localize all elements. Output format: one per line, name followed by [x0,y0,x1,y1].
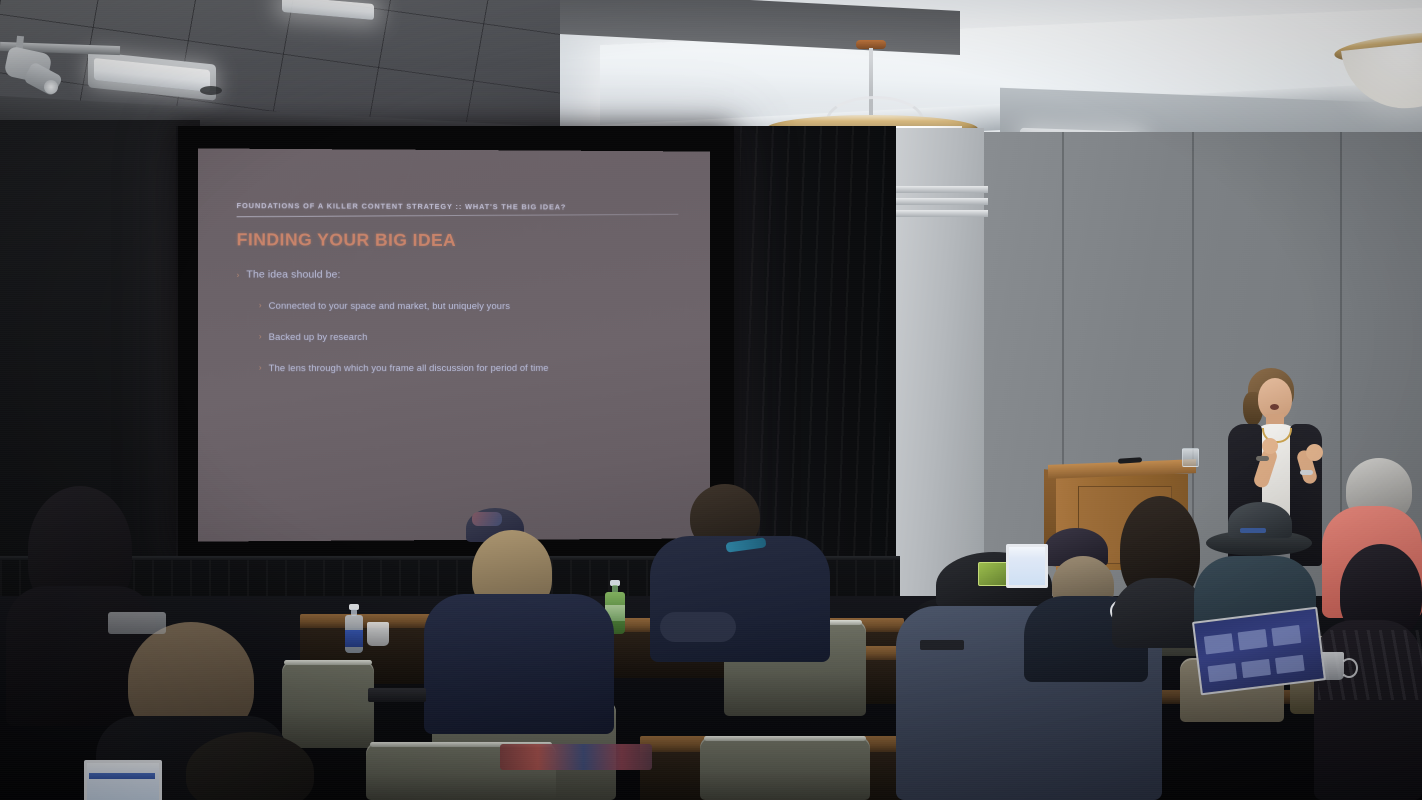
bottle-label [345,630,363,647]
bullet-text: Backed up by research [269,330,368,343]
conference-room-scene: FOUNDATIONS OF A KILLER CONTENT STRATEGY… [0,0,1422,800]
screen-tile [1241,659,1271,678]
chair-top-rail [284,660,372,665]
slide-bullet-item: › Backed up by research [259,330,677,343]
laptop-screen [1006,544,1048,588]
phone-device [920,640,964,650]
column-molding [884,198,988,205]
presentation-slide: FOUNDATIONS OF A KILLER CONTENT STRATEGY… [198,148,710,541]
screen-tile [1204,633,1234,654]
projection-screen-surface: FOUNDATIONS OF A KILLER CONTENT STRATEGY… [198,148,710,541]
presenter-hand-right [1306,444,1323,461]
screen-tile [1275,655,1305,674]
slide-eyebrow-text: FOUNDATIONS OF A KILLER CONTENT STRATEGY… [237,201,677,212]
spotlight-lens-icon [44,80,58,94]
column-molding [884,210,988,217]
slide-bullet-item: › The idea should be: [237,268,677,282]
laptop-screen [84,760,162,800]
laptop-screen [1192,607,1326,696]
presenter-hand-left [1262,438,1278,454]
presenter-bracelet [1256,456,1269,461]
slide-bullet-list: › The idea should be: › Connected to you… [237,268,677,374]
banquet-chair [700,736,870,800]
water-glass [1182,448,1199,467]
screen-tile [1207,663,1237,682]
bandana-pattern [472,512,502,526]
mug-handle [1340,658,1358,678]
chair-top-rail [704,736,866,741]
bullet-text: The idea should be: [246,269,340,282]
slide-divider-rule [237,214,679,217]
tablet-device [368,688,426,702]
attendee-arm [660,612,736,642]
bullet-arrow-icon: › [259,361,262,374]
presenter-mouth [1270,404,1279,410]
paper-stack [108,612,166,634]
slide-bullet-item: › The lens through which you frame all d… [259,361,677,374]
screen-tile [1238,629,1268,650]
drinking-glass [367,622,389,646]
projection-screen-frame: FOUNDATIONS OF A KILLER CONTENT STRATEGY… [178,126,734,562]
slide-title: FINDING YOUR BIG IDEA [237,229,677,251]
attendee-torso [424,594,614,734]
bullet-text: The lens through which you frame all dis… [269,361,549,374]
bullet-arrow-icon: › [237,268,240,281]
ceiling-vent [200,86,222,95]
column-molding [884,186,988,193]
screen-tile [1271,625,1301,646]
laptop-toolbar [89,773,155,779]
slide-bullet-item: › Connected to your space and market, bu… [259,299,677,313]
banquet-chair [282,660,374,748]
hat-band-label [1240,528,1266,533]
bullet-arrow-icon: › [259,330,262,343]
presenter-watch [1300,470,1313,475]
drape-folds [740,126,890,596]
bullet-arrow-icon: › [259,299,262,312]
patterned-fabric-item [500,744,652,770]
bullet-text: Connected to your space and market, but … [269,299,510,312]
attendee-torso [650,536,830,662]
